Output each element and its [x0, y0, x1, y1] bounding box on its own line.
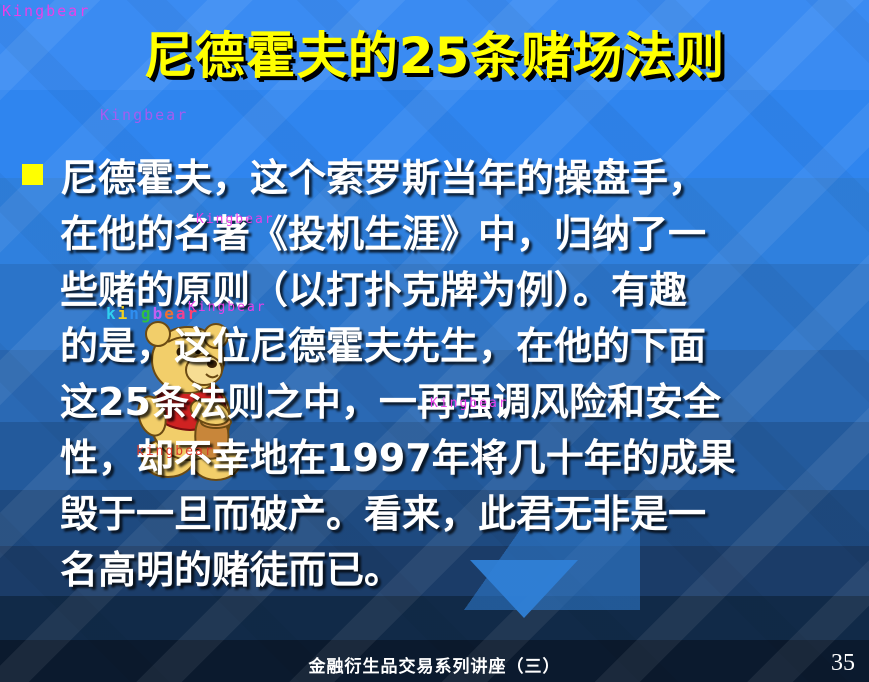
watermark-kingbear-multicolor: kingbear: [106, 304, 199, 323]
bullet-square-icon: [22, 164, 43, 185]
body-line: 毁于一旦而破产。看来，此君无非是一: [60, 486, 858, 542]
body-text-block: 尼德霍夫，这个索罗斯当年的操盘手， 在他的名著《投机生涯》中，归纳了一 些赌的原…: [18, 150, 858, 598]
body-line: 名高明的赌徒而已。: [60, 542, 858, 598]
body-line: 在他的名著《投机生涯》中，归纳了一: [60, 206, 858, 262]
watermark-kingbear: Kingbear: [188, 300, 267, 315]
page-title: 尼德霍夫的25条赌场法则: [0, 16, 869, 88]
watermark-kingbear: Kingbear: [100, 106, 188, 124]
page-number: 35: [831, 650, 855, 677]
footer-title: 金融衍生品交易系列讲座（三）: [0, 652, 869, 677]
presentation-slide: 尼德霍夫的25条赌场法则: [0, 0, 869, 682]
watermark-kingbear: Kingbear: [430, 396, 509, 411]
slide-footer: 金融衍生品交易系列讲座（三） 35: [0, 650, 869, 682]
bullet-paragraph: 尼德霍夫，这个索罗斯当年的操盘手， 在他的名著《投机生涯》中，归纳了一 些赌的原…: [18, 150, 858, 598]
watermark-kingbear: Kingbear: [2, 2, 90, 20]
watermark-kingbear: Kingbear: [196, 212, 275, 227]
body-paragraph: 尼德霍夫，这个索罗斯当年的操盘手， 在他的名著《投机生涯》中，归纳了一 些赌的原…: [18, 150, 858, 598]
body-line: 尼德霍夫，这个索罗斯当年的操盘手，: [60, 150, 858, 206]
body-line: 的是，这位尼德霍夫先生，在他的下面: [60, 318, 858, 374]
watermark-kingbear: kingbear: [136, 444, 215, 459]
